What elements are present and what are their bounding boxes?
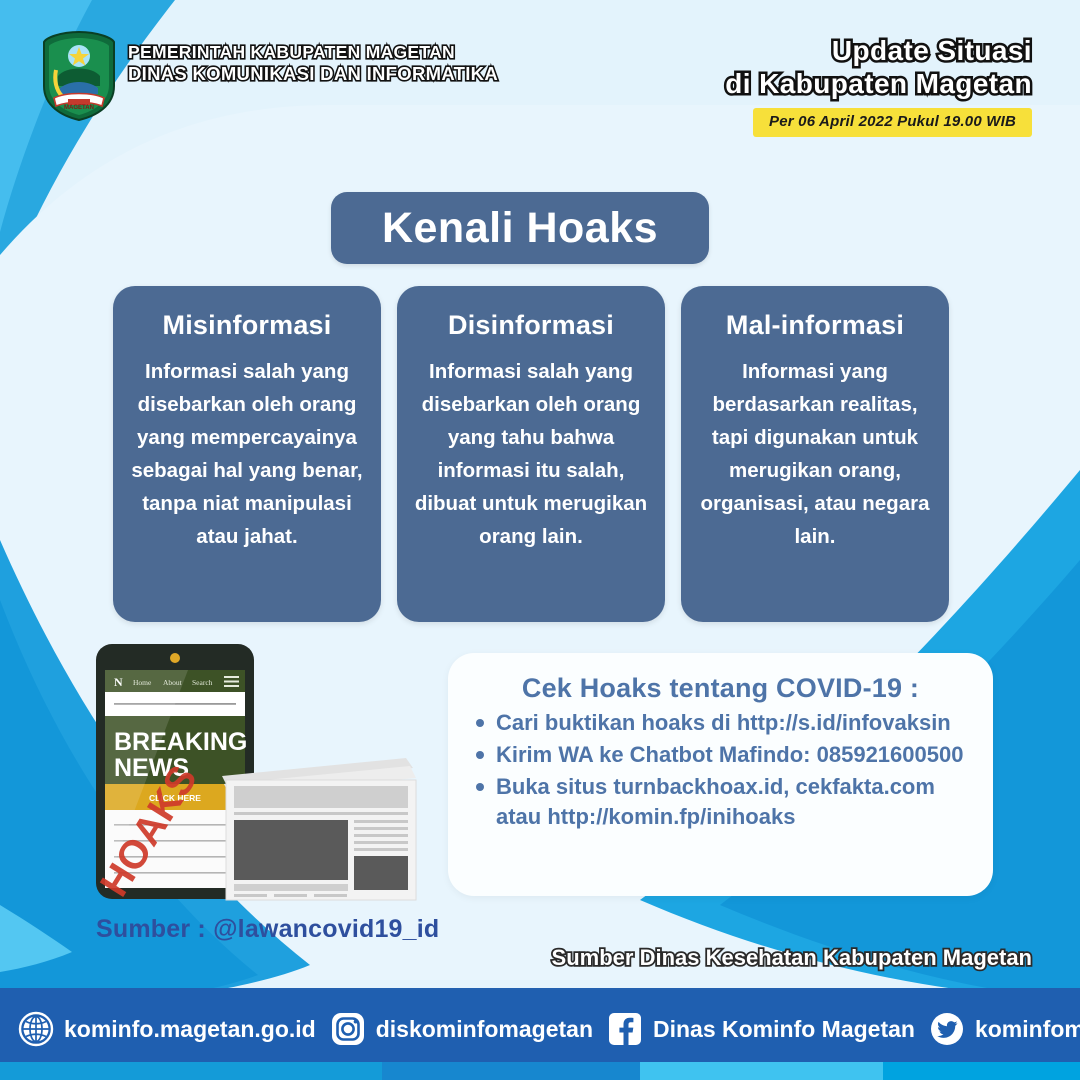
globe-icon bbox=[18, 1011, 54, 1047]
cek-hoaks-title: Cek Hoaks tentang COVID-19 : bbox=[470, 673, 971, 704]
date-badge-label: Per 06 April 2022 Pukul 19.00 WIB bbox=[769, 113, 1016, 130]
page-title: Kenali Hoaks bbox=[331, 192, 709, 264]
footer-item-facebook[interactable]: Dinas Kominfo Magetan bbox=[607, 1011, 915, 1047]
card-heading: Misinformasi bbox=[129, 310, 365, 341]
source-left: Sumber : @lawancovid19_id bbox=[96, 915, 439, 944]
gov-line-1: PEMERINTAH KABUPATEN MAGETAN bbox=[128, 42, 498, 63]
footer-label: kominfomagetan1 bbox=[975, 1016, 1080, 1043]
infographic-poster: MAGETAN PEMERINTAH KABUPATEN MAGETAN DIN… bbox=[0, 0, 1080, 1080]
card-heading: Disinformasi bbox=[413, 310, 649, 341]
card-body: Informasi salah yang disebarkan oleh ora… bbox=[413, 355, 649, 553]
magetan-regency-crest-icon: MAGETAN bbox=[40, 30, 118, 122]
footer-item-twitter[interactable]: kominfomagetan1 bbox=[929, 1011, 1080, 1047]
strip-segment-4 bbox=[883, 1062, 1080, 1080]
card-body: Informasi yang berdasarkan realitas, tap… bbox=[697, 355, 933, 553]
list-item: Cari buktikan hoaks di http://s.id/infov… bbox=[496, 708, 971, 738]
government-title: PEMERINTAH KABUPATEN MAGETAN DINAS KOMUN… bbox=[128, 42, 498, 84]
card-body: Informasi salah yang disebarkan oleh ora… bbox=[129, 355, 365, 553]
card-heading: Mal-informasi bbox=[697, 310, 933, 341]
update-situation-block: Update Situasi di Kabupaten Magetan Per … bbox=[725, 34, 1032, 137]
update-line-1: Update Situasi bbox=[725, 34, 1032, 67]
footer-label: kominfo.magetan.go.id bbox=[64, 1016, 316, 1043]
gov-line-2: DINAS KOMUNIKASI DAN INFORMATIKA bbox=[128, 63, 498, 84]
hoax-illustration: N Home About Search BREAKING NEWS CLICK … bbox=[88, 638, 428, 910]
header: MAGETAN PEMERINTAH KABUPATEN MAGETAN DIN… bbox=[0, 0, 1080, 160]
footer-item-website[interactable]: kominfo.magetan.go.id bbox=[18, 1011, 316, 1047]
svg-text:MAGETAN: MAGETAN bbox=[64, 105, 94, 111]
footer-label: diskominfomagetan bbox=[376, 1016, 593, 1043]
twitter-icon bbox=[929, 1011, 965, 1047]
footer-label: Dinas Kominfo Magetan bbox=[653, 1016, 915, 1043]
card-misinformasi: Misinformasi Informasi salah yang diseba… bbox=[113, 286, 381, 622]
card-mal-informasi: Mal-informasi Informasi yang berdasarkan… bbox=[681, 286, 949, 622]
source-right: Sumber Dinas Kesehatan Kabupaten Magetan bbox=[552, 945, 1032, 971]
tablet-nav-search: Search bbox=[192, 678, 213, 687]
list-item: Kirim WA ke Chatbot Mafindo: 08592160050… bbox=[496, 740, 971, 770]
page-title-label: Kenali Hoaks bbox=[382, 204, 658, 253]
footer-accent-strip bbox=[0, 1062, 1080, 1080]
facebook-icon bbox=[607, 1011, 643, 1047]
date-badge: Per 06 April 2022 Pukul 19.00 WIB bbox=[753, 108, 1032, 137]
cek-hoaks-list: Cari buktikan hoaks di http://s.id/infov… bbox=[470, 708, 971, 832]
hoax-type-cards: Misinformasi Informasi salah yang diseba… bbox=[113, 286, 969, 622]
strip-segment-1 bbox=[0, 1062, 382, 1080]
strip-segment-3 bbox=[640, 1062, 883, 1080]
cek-hoaks-box: Cek Hoaks tentang COVID-19 : Cari buktik… bbox=[448, 653, 993, 896]
footer-item-instagram[interactable]: diskominfomagetan bbox=[330, 1011, 593, 1047]
instagram-icon bbox=[330, 1011, 366, 1047]
strip-segment-2 bbox=[382, 1062, 640, 1080]
card-disinformasi: Disinformasi Informasi salah yang diseba… bbox=[397, 286, 665, 622]
update-line-2: di Kabupaten Magetan bbox=[725, 67, 1032, 100]
list-item: Buka situs turnbackhoax.id, cekfakta.com… bbox=[496, 772, 971, 832]
